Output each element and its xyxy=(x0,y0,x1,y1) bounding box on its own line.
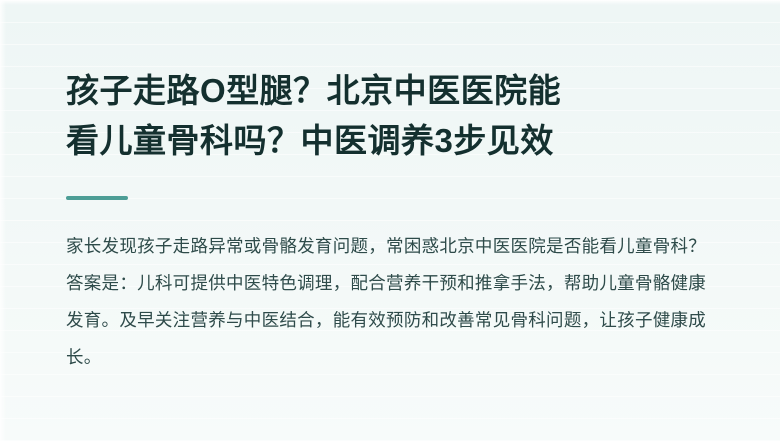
page-title: 孩子走路O型腿？北京中医医院能 看儿童骨科吗？中医调养3步见效 xyxy=(66,66,706,166)
title-divider xyxy=(66,196,128,200)
card-content: 孩子走路O型腿？北京中医医院能 看儿童骨科吗？中医调养3步见效 家长发现孩子走路… xyxy=(0,0,780,376)
body-paragraph: 家长发现孩子走路异常或骨骼发育问题，常困惑北京中医医院是否能看儿童骨科？答案是：… xyxy=(66,228,706,376)
article-card: 孩子走路O型腿？北京中医医院能 看儿童骨科吗？中医调养3步见效 家长发现孩子走路… xyxy=(0,0,780,441)
